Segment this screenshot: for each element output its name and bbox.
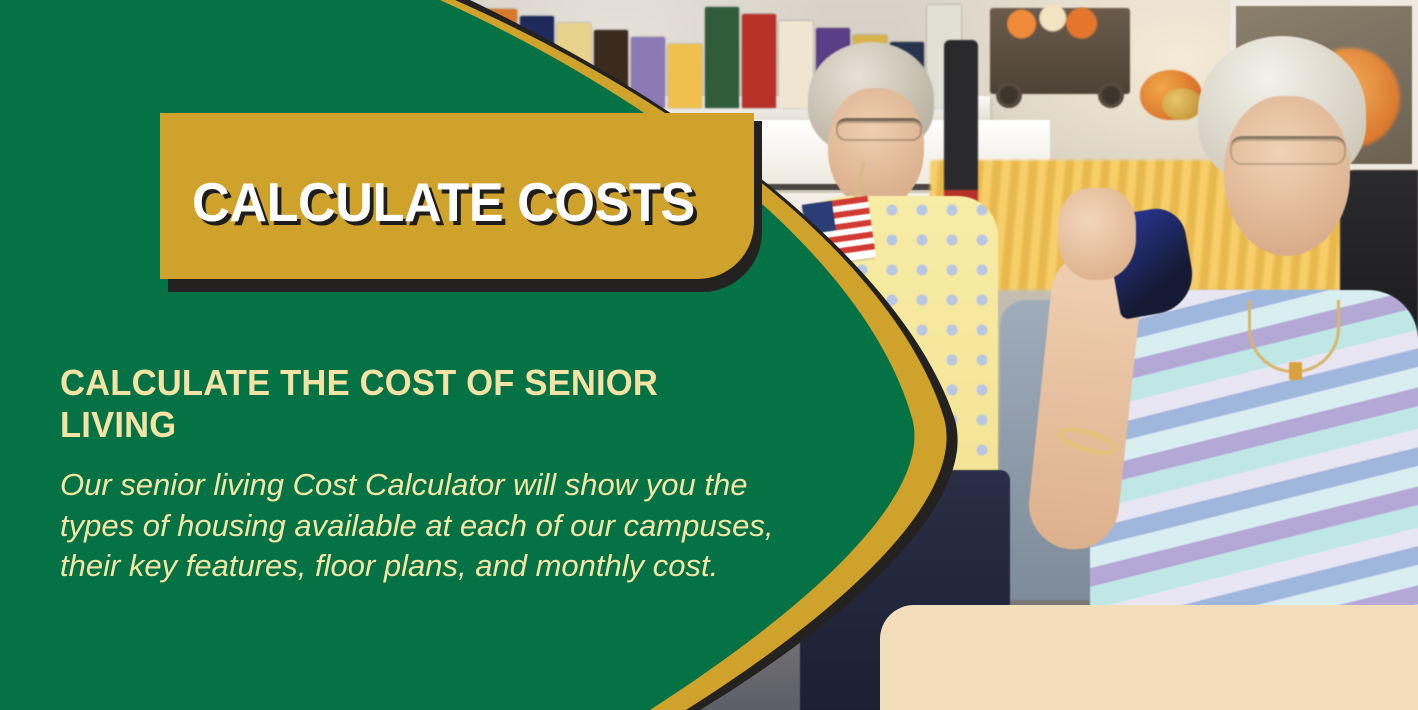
- page-title: CALCULATE COSTS: [192, 170, 695, 234]
- section-heading: CALCULATE THE COST OF SENIOR LIVING: [60, 362, 770, 447]
- brand-shape-overlay: [0, 0, 1418, 710]
- hero-banner: CALCULATE COSTS CALCULATE THE COST OF SE…: [0, 0, 1418, 710]
- section-body: Our senior living Cost Calculator will s…: [60, 465, 790, 587]
- cream-accent-panel: [880, 605, 1418, 710]
- green-field-shape: [0, 0, 914, 710]
- copy-block: CALCULATE THE COST OF SENIOR LIVING Our …: [60, 362, 800, 587]
